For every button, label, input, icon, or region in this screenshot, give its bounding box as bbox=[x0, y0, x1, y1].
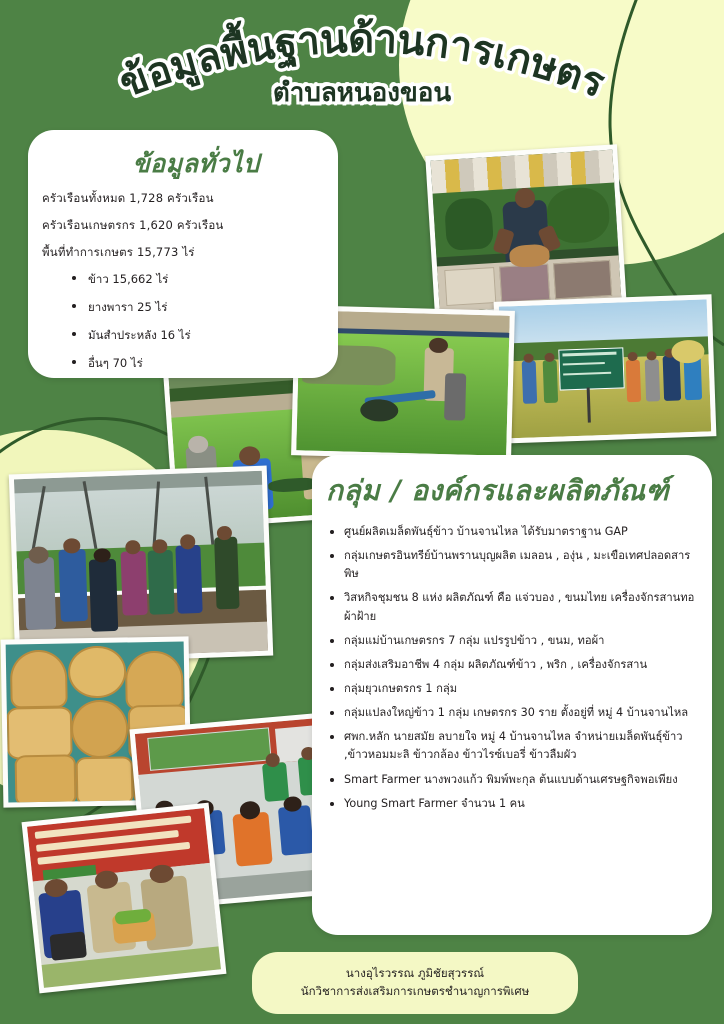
list-item: กลุ่มแปลงใหญ่ข้าว 1 กลุ่ม เกษตรกร 30 ราย… bbox=[328, 704, 696, 722]
photo-award-ceremony bbox=[22, 803, 227, 994]
stat-farm-area: พื้นที่ทำการเกษตร 15,773 ไร่ bbox=[42, 244, 338, 262]
groups-products-list: ศูนย์ผลิตเมล็ดพันธุ์ข้าว บ้านจานไหล ได้ร… bbox=[312, 523, 712, 813]
general-info-stats: ครัวเรือนทั้งหมด 1,728 ครัวเรือน ครัวเรื… bbox=[42, 190, 338, 373]
groups-products-heading: กลุ่ม / องค์กรและผลิตภัณฑ์ bbox=[326, 469, 712, 513]
stat-farmer-households: ครัวเรือนเกษตรกร 1,620 ครัวเรือน bbox=[42, 217, 338, 235]
photo-group-field-sign bbox=[494, 294, 717, 444]
list-item: กลุ่มแม่บ้านเกษตรกร 7 กลุ่ม แปรรูปข้าว ,… bbox=[328, 632, 696, 650]
list-item: วิสหกิจชุมชน 8 แห่ง ผลิตภัณฑ์ คือ แจ่วบอ… bbox=[328, 589, 696, 625]
list-item: ข้าว 15,662 ไร่ bbox=[72, 271, 338, 289]
groups-products-card: กลุ่ม / องค์กรและผลิตภัณฑ์ ศูนย์ผลิตเมล็… bbox=[312, 455, 712, 935]
list-item: Smart Farmer นางพวงแก้ว พิมพ์พะกุล ต้นแบ… bbox=[328, 771, 696, 789]
page-subtitle: ตำบลหนองขอน bbox=[0, 72, 724, 113]
crop-area-list: ข้าว 15,662 ไร่ ยางพารา 25 ไร่ มันสำประห… bbox=[72, 271, 338, 373]
list-item: มันสำประหลัง 16 ไร่ bbox=[72, 327, 338, 345]
list-item: ยางพารา 25 ไร่ bbox=[72, 299, 338, 317]
list-item: ศูนย์ผลิตเมล็ดพันธุ์ข้าว บ้านจานไหล ได้ร… bbox=[328, 523, 696, 541]
photo-greenhouse-visit bbox=[9, 466, 273, 665]
list-item: Young Smart Farmer จำนวน 1 คน bbox=[328, 795, 696, 813]
stat-total-households: ครัวเรือนทั้งหมด 1,728 ครัวเรือน bbox=[42, 190, 338, 208]
author-footer: นางอุไรวรรณ ภูมิชัยสุวรรณ์ นักวิชาการส่ง… bbox=[252, 952, 578, 1014]
author-position: นักวิชาการส่งเสริมการเกษตรชำนาญการพิเศษ bbox=[301, 983, 530, 1001]
general-info-heading: ข้อมูลทั่วไป bbox=[68, 144, 324, 184]
list-item: กลุ่มเกษตรอินทรีย์บ้านพรานบุญผลิต เมลอน … bbox=[328, 547, 696, 583]
list-item: ศพก.หลัก นายสมัย ลบายใจ หมู่ 4 บ้านจานไห… bbox=[328, 728, 696, 764]
photo-seed-center-man bbox=[425, 144, 627, 317]
list-item: อื่นๆ 70 ไร่ bbox=[72, 355, 338, 373]
poster-root: ข้อมูลพื้นฐานด้านการเกษตร ตำบลหนองขอน bbox=[0, 0, 724, 1024]
list-item: กลุ่มส่งเสริมอาชีพ 4 กลุ่ม ผลิตภัณฑ์ข้าว… bbox=[328, 656, 696, 674]
author-name: นางอุไรวรรณ ภูมิชัยสุวรรณ์ bbox=[346, 965, 484, 983]
general-info-card: ข้อมูลทั่วไป ครัวเรือนทั้งหมด 1,728 ครัว… bbox=[28, 130, 338, 378]
list-item: กลุ่มยุวเกษตรกร 1 กลุ่ม bbox=[328, 680, 696, 698]
